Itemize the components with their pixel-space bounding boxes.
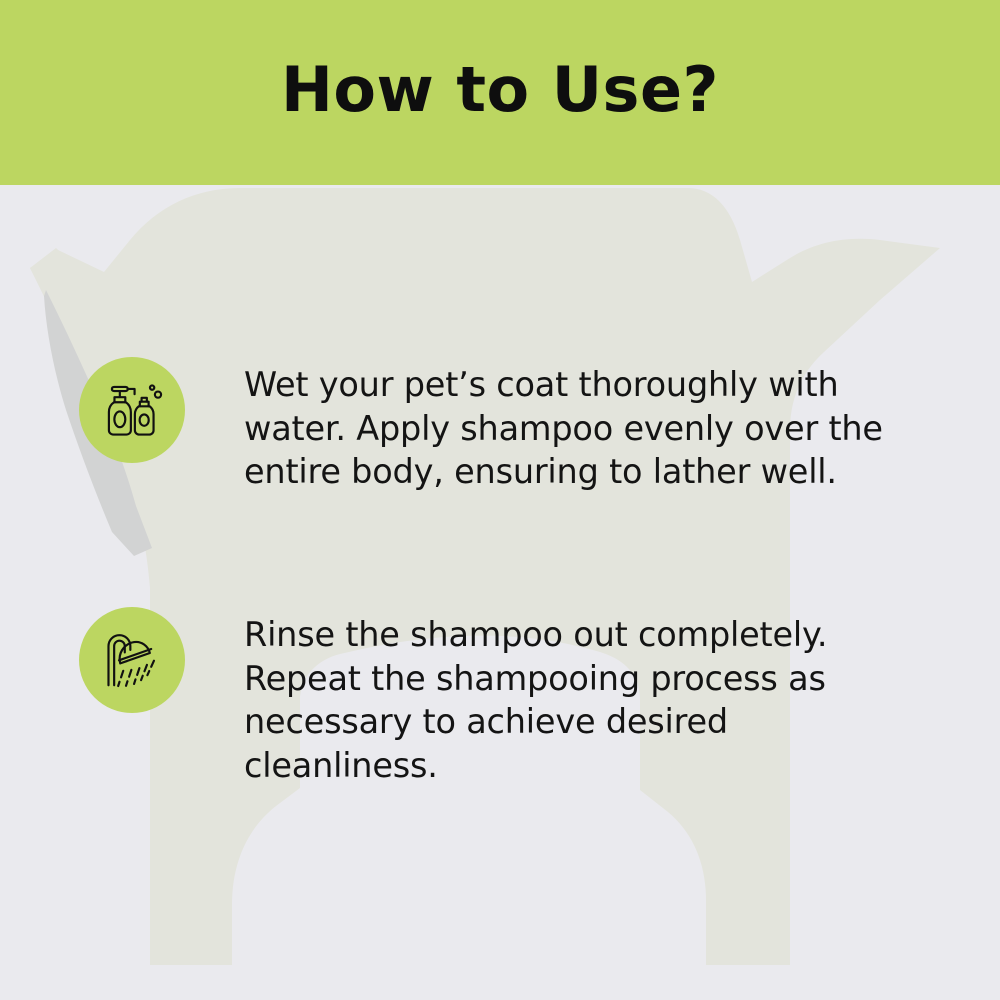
header-band: How to Use? <box>0 0 1000 185</box>
infographic-canvas: How to Use? <box>0 0 1000 1000</box>
step-2-text: Rinse the shampoo out completely. Repeat… <box>244 613 909 787</box>
page-title: How to Use? <box>281 59 719 127</box>
shower-head-icon <box>99 627 165 693</box>
shampoo-bottles-icon <box>99 377 165 443</box>
step-1-icon-badge <box>79 357 185 463</box>
step-item-2: Rinse the shampoo out completely. Repeat… <box>79 607 939 821</box>
step-1-text: Wet your pet’s coat thoroughly with wate… <box>244 363 909 494</box>
steps-list: Wet your pet’s coat thoroughly with wate… <box>0 185 1000 1000</box>
step-item-1: Wet your pet’s coat thoroughly with wate… <box>79 357 939 527</box>
step-2-icon-badge <box>79 607 185 713</box>
